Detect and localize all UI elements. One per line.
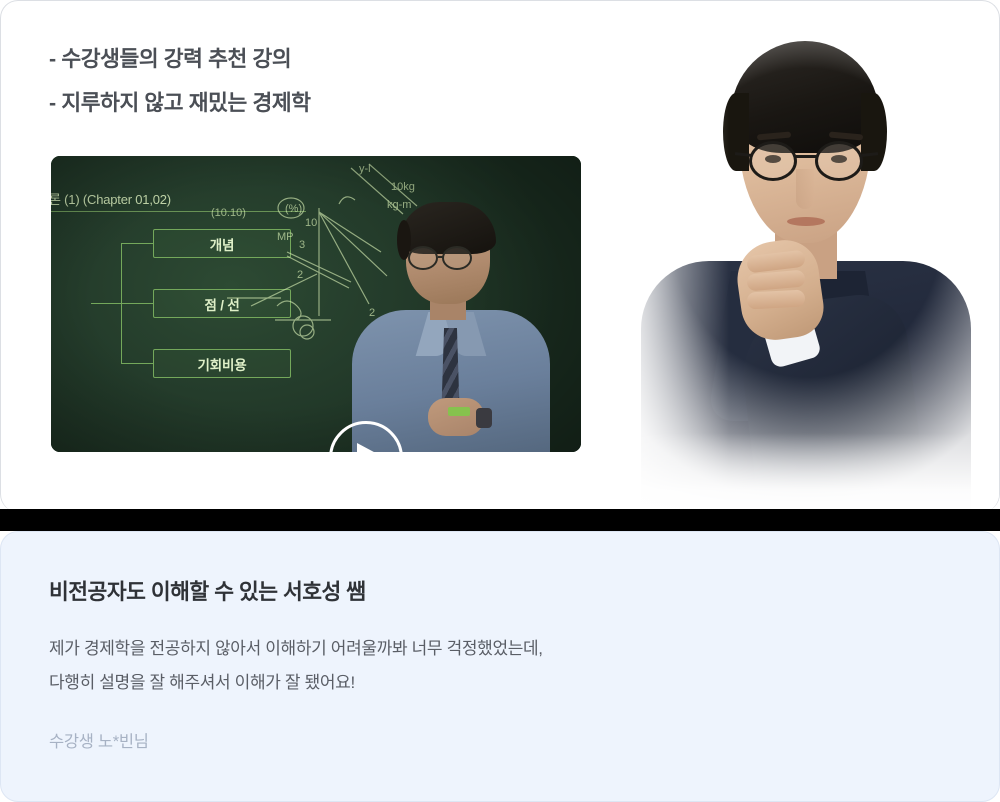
video-teacher-glasses-right	[442, 246, 472, 270]
video-thumbnail[interactable]: 론 (1) (Chapter 01,02) 개념 점 / 선 기회비용	[51, 156, 581, 452]
testimonial-author: 수강생 노*빈님	[49, 728, 149, 752]
testimonial-body-line-1: 제가 경제학을 전공하지 않아서 이해하기 어려울까봐 너무 걱정했었는데,	[49, 632, 543, 666]
video-teacher-glasses-left	[408, 246, 438, 270]
hero-headline-line-2: - 지루하지 않고 재밌는 경제학	[49, 93, 311, 115]
hero-headline-line-1: - 수강생들의 강력 추천 강의	[49, 49, 311, 71]
promo-page: - 수강생들의 강력 추천 강의 - 지루하지 않고 재밌는 경제학 론 (1)…	[0, 0, 1000, 802]
video-teacher-chalk	[448, 407, 470, 416]
testimonial-title: 비전공자도 이해할 수 있는 서호성 쌤	[49, 575, 366, 606]
testimonial-card: 비전공자도 이해할 수 있는 서호성 쌤 제가 경제학을 전공하지 않아서 이해…	[0, 531, 1000, 802]
section-divider	[0, 509, 1000, 531]
video-teacher-figure	[344, 202, 559, 452]
hero-heading-group: - 수강생들의 강력 추천 강의 - 지루하지 않고 재밌는 경제학	[49, 49, 311, 136]
play-triangle	[357, 443, 387, 452]
instructor-photo	[599, 29, 999, 512]
hero-card: - 수강생들의 강력 추천 강의 - 지루하지 않고 재밌는 경제학 론 (1)…	[0, 0, 1000, 512]
video-teacher-watch	[476, 408, 492, 428]
video-teacher-hair	[400, 202, 496, 254]
instructor-photo-bottom-fade	[599, 433, 999, 512]
testimonial-body: 제가 경제학을 전공하지 않아서 이해하기 어려울까봐 너무 걱정했었는데, 다…	[49, 632, 543, 700]
video-teacher-glasses-bridge	[438, 256, 444, 258]
testimonial-body-line-2: 다행히 설명을 잘 해주셔서 이해가 잘 됐어요!	[49, 666, 543, 700]
